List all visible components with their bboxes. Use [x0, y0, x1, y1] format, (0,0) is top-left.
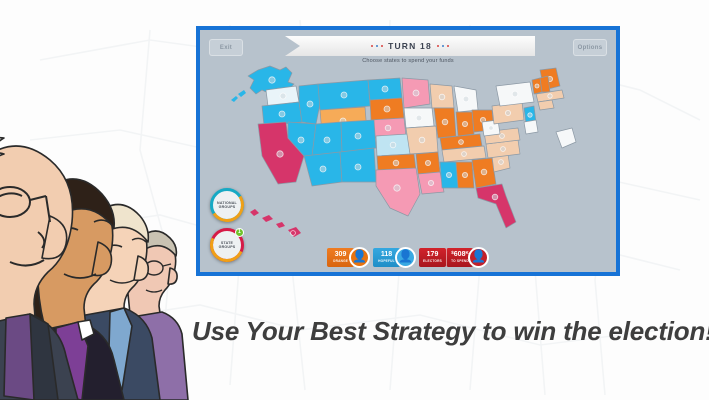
candidate-3	[68, 204, 160, 400]
promo-tagline: Use Your Best Strategy to win the electi…	[192, 316, 709, 347]
player-avatar[interactable]: 👤	[468, 247, 489, 268]
national-groups-label: NATIONAL GROUPS	[213, 201, 241, 210]
electors-chip: 179 ELECTORS	[419, 248, 446, 267]
stat-orange-value: 309	[335, 251, 347, 258]
banner-dots-left	[371, 45, 384, 48]
national-groups-button[interactable]: NATIONAL GROUPS	[210, 188, 244, 222]
turn-banner: TURN 18	[285, 36, 535, 56]
exit-button[interactable]: Exit	[209, 39, 243, 56]
funds-value: $608K	[451, 251, 468, 258]
stat-blue[interactable]: 118 HOPEFUL 👤	[373, 247, 416, 268]
stat-blue-label: HOPEFUL	[378, 259, 395, 263]
stat-orange[interactable]: 309 ORANGE 👤	[327, 247, 370, 268]
stat-orange-avatar[interactable]: 👤	[349, 247, 370, 268]
game-viewport: Exit Options TURN 18 Choose states to sp…	[200, 30, 616, 272]
stat-blue-avatar[interactable]: 👤	[395, 247, 416, 268]
player-face-icon: 👤	[471, 249, 486, 263]
funds-label: TO SPEND	[451, 259, 469, 263]
candidate-face-icon: 👤	[352, 249, 367, 263]
candidate-face-icon: 👤	[398, 249, 413, 263]
game-hud: 309 ORANGE 👤 118 HOPEFUL 👤 179	[200, 242, 616, 272]
electors-value: 179	[427, 251, 439, 258]
banner-dots-right	[437, 45, 450, 48]
options-button[interactable]: Options	[573, 39, 607, 56]
funds-amount: 608	[454, 251, 466, 258]
us-electoral-map[interactable]: .st{stroke:#8c99a5;stroke-width:.7;strok…	[200, 64, 620, 242]
state-groups-notification-badge: 1	[235, 228, 244, 237]
stat-orange-label: ORANGE	[333, 259, 348, 263]
stat-blue-value: 118	[381, 251, 392, 258]
candidate-1	[0, 138, 78, 400]
player-stats[interactable]: 179 ELECTORS $608K TO SPEND 👤	[419, 247, 489, 268]
turn-label: TURN 18	[388, 41, 432, 51]
candidate-4	[114, 231, 188, 400]
game-screenshot-panel: Exit Options TURN 18 Choose states to sp…	[196, 26, 620, 276]
electors-label: ELECTORS	[423, 259, 442, 263]
candidate-illustrations	[0, 120, 204, 400]
candidate-2	[4, 179, 124, 400]
